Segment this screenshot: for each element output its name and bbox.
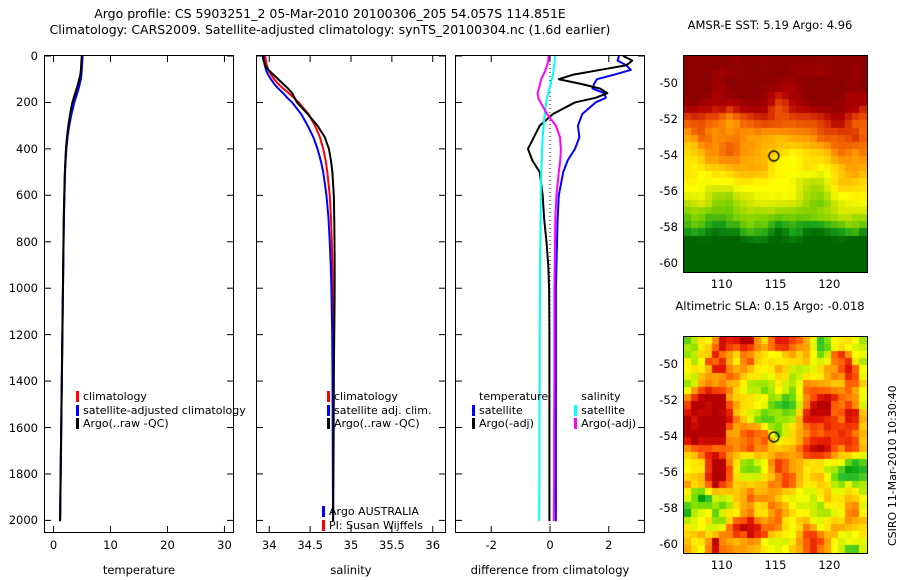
- salinity-legend: climatology satellite adj. clim. Argo(..…: [327, 390, 431, 431]
- axis-tick-label: 20: [145, 538, 189, 552]
- legend-label: Argo(..raw -QC): [334, 417, 420, 431]
- credit-line-2: PI: Susan Wijffels: [329, 519, 423, 533]
- legend-item: satellite adj. clim.: [327, 404, 431, 418]
- color-swatch-climatology: [322, 520, 325, 531]
- axis-tick-label: 0: [0, 49, 38, 63]
- axis-tick-label: 120: [807, 277, 851, 291]
- axis-tick-label: -2: [469, 538, 513, 552]
- credit-line: PI: Susan Wijffels: [322, 519, 423, 533]
- legend-item: satellite: [574, 404, 636, 418]
- temperature-legend: climatology satellite-adjusted climatolo…: [76, 390, 246, 431]
- credit-line: Argo AUSTRALIA: [322, 505, 423, 519]
- axis-tick-label: 10: [89, 538, 133, 552]
- color-swatch-salinity-argo: [574, 418, 577, 429]
- difference-x-axis-label: difference from climatology: [440, 563, 660, 577]
- legend-label: climatology: [334, 390, 398, 404]
- axis-tick-label: 400: [0, 142, 38, 156]
- figure-title-line-1: Argo profile: CS 5903251_2 05-Mar-2010 2…: [0, 6, 660, 22]
- figure-title: Argo profile: CS 5903251_2 05-Mar-2010 2…: [0, 6, 660, 38]
- color-swatch-satellite: [327, 405, 330, 416]
- axis-tick-label: 600: [0, 188, 38, 202]
- axis-tick-label: -52: [648, 112, 678, 126]
- color-swatch-argo: [472, 418, 475, 429]
- axis-tick-label: 2000: [0, 513, 38, 527]
- axis-tick-label: 1400: [0, 374, 38, 388]
- legend-item: satellite-adjusted climatology: [76, 404, 246, 418]
- axis-tick-label: 1800: [0, 467, 38, 481]
- temperature-profile-panel: [44, 55, 234, 533]
- legend-label: Argo(..raw -QC): [83, 417, 169, 431]
- axis-tick-label: 110: [700, 558, 744, 572]
- axis-tick-label: 2: [587, 538, 631, 552]
- legend-label: satellite: [581, 404, 625, 418]
- figure-title-line-2: Climatology: CARS2009. Satellite-adjuste…: [0, 22, 660, 38]
- color-swatch-argo: [327, 418, 330, 429]
- temperature-plot-area: [45, 56, 233, 532]
- legend-group-title: salinity: [574, 390, 636, 404]
- axis-tick-label: 36: [411, 538, 455, 552]
- temperature-x-axis-label: temperature: [44, 563, 234, 577]
- axis-tick-label: -60: [648, 256, 678, 270]
- legend-item: climatology: [76, 390, 246, 404]
- salinity-profile-panel: [256, 55, 446, 533]
- difference-profile-panel: [455, 55, 645, 533]
- color-swatch-satellite: [322, 506, 325, 517]
- axis-tick-label: 800: [0, 235, 38, 249]
- color-swatch-satellite: [472, 405, 475, 416]
- color-swatch-argo: [76, 418, 79, 429]
- axis-tick-label: -52: [648, 393, 678, 407]
- axis-tick-label: -58: [648, 220, 678, 234]
- legend-label: Argo(-adj): [581, 417, 636, 431]
- axis-tick-label: 35.5: [370, 538, 414, 552]
- sst-heatmap-canvas: [684, 56, 867, 272]
- axis-tick-label: 110: [700, 277, 744, 291]
- axis-tick-label: 200: [0, 95, 38, 109]
- legend-item: Argo(-adj): [472, 417, 548, 431]
- sst-map-title: AMSR-E SST: 5.19 Argo: 4.96: [665, 18, 875, 32]
- legend-item: satellite: [472, 404, 548, 418]
- axis-tick-label: -56: [648, 184, 678, 198]
- credit-line-1: Argo AUSTRALIA: [329, 505, 419, 519]
- axis-tick-label: 115: [754, 277, 798, 291]
- sst-map: [683, 55, 868, 273]
- axis-tick-label: 35: [329, 538, 373, 552]
- axis-tick-label: -56: [648, 465, 678, 479]
- axis-tick-label: 1600: [0, 421, 38, 435]
- legend-item: Argo(..raw -QC): [327, 417, 431, 431]
- axis-tick-label: -54: [648, 148, 678, 162]
- axis-tick-label: -50: [648, 76, 678, 90]
- axis-tick-label: 34: [247, 538, 291, 552]
- legend-item: Argo(..raw -QC): [76, 417, 246, 431]
- legend-label: satellite-adjusted climatology: [83, 404, 246, 418]
- legend-label: climatology: [83, 390, 147, 404]
- axis-tick-label: -50: [648, 357, 678, 371]
- legend-group-salinity: salinity satellite Argo(-adj): [574, 390, 636, 431]
- axis-tick-label: -60: [648, 537, 678, 551]
- axis-tick-label: -54: [648, 429, 678, 443]
- axis-tick-label: 30: [202, 538, 246, 552]
- legend-group-temperature: temperature satellite Argo(-adj): [472, 390, 548, 431]
- legend-item: climatology: [327, 390, 431, 404]
- legend-item: Argo(-adj): [574, 417, 636, 431]
- sla-map-title: Altimetric SLA: 0.15 Argo: -0.018: [665, 299, 875, 313]
- axis-tick-label: -58: [648, 501, 678, 515]
- legend-group-title: temperature: [472, 390, 548, 404]
- axis-tick-label: 1200: [0, 328, 38, 342]
- color-swatch-salinity-satellite: [574, 405, 577, 416]
- csiro-timestamp: CSIRO 11-Mar-2010 10:30:40: [886, 385, 899, 546]
- legend-label: satellite adj. clim.: [334, 404, 431, 418]
- legend-label: Argo(-adj): [479, 417, 534, 431]
- argo-credit: Argo AUSTRALIA PI: Susan Wijffels: [322, 505, 423, 532]
- color-swatch-climatology: [327, 391, 330, 402]
- axis-tick-label: 34.5: [288, 538, 332, 552]
- axis-tick-label: 120: [807, 558, 851, 572]
- sla-map: [683, 336, 868, 554]
- axis-tick-label: 0: [528, 538, 572, 552]
- difference-plot-area: [456, 56, 644, 532]
- legend-label: satellite: [479, 404, 523, 418]
- color-swatch-satellite: [76, 405, 79, 416]
- salinity-plot-area: [257, 56, 445, 532]
- color-swatch-climatology: [76, 391, 79, 402]
- axis-tick-label: 115: [754, 558, 798, 572]
- sla-heatmap-canvas: [684, 337, 867, 553]
- axis-tick-label: 1000: [0, 281, 38, 295]
- axis-tick-label: 0: [32, 538, 76, 552]
- salinity-x-axis-label: salinity: [256, 563, 446, 577]
- difference-legend: temperature satellite Argo(-adj) salinit…: [472, 390, 636, 431]
